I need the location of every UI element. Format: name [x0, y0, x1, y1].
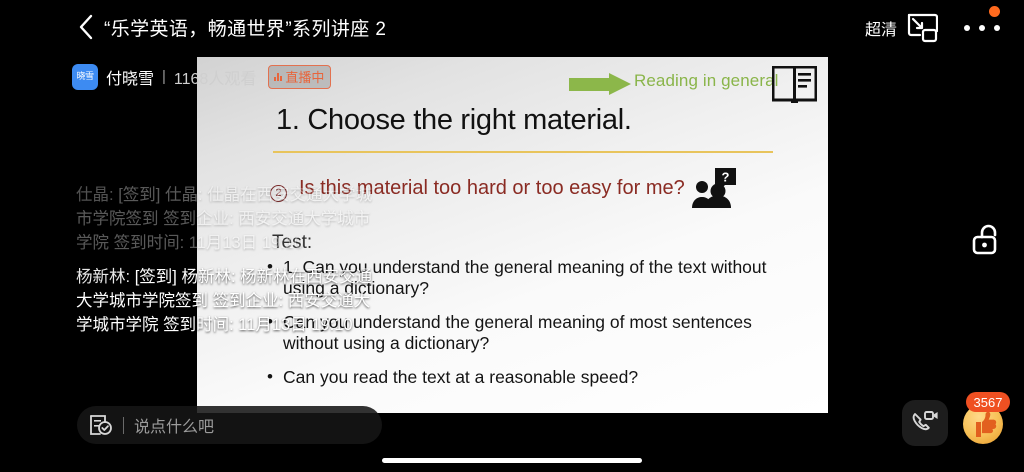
- streamer-info-row: 晓雪 付晓雪 | 1168人观看 直播中: [72, 64, 331, 89]
- more-dot: [979, 25, 985, 31]
- streamer-divider: |: [162, 68, 166, 85]
- signin-check-icon[interactable]: [89, 414, 113, 436]
- video-call-button[interactable]: [902, 400, 948, 446]
- svg-text:?: ?: [722, 170, 730, 185]
- chat-author: 杨新林:: [76, 268, 130, 286]
- list-item: Can you read the text at a reasonable sp…: [267, 367, 812, 388]
- home-indicator: [382, 458, 642, 463]
- chat-input-bar[interactable]: 说点什么吧: [77, 406, 382, 444]
- more-dot: [964, 25, 970, 31]
- viewer-count: 1168人观看: [174, 65, 256, 89]
- status-badge: 直播中: [268, 65, 331, 89]
- live-label: 直播中: [285, 67, 324, 86]
- chevron-left-icon: [78, 14, 93, 40]
- list-item: 杨新林: [签到] 杨新林: 杨新林在西安交通大学城市学院签到 签到企业: 西安…: [76, 265, 381, 337]
- people-question-icon: ?: [691, 168, 737, 208]
- open-book-icon: [772, 66, 817, 103]
- chat-text: [签到] 仕晶: 仕晶在西安交通大学城市学院签到 签到企业: 西安交通大学城市学…: [76, 186, 372, 252]
- chat-overlay[interactable]: 仕晶: [签到] 仕晶: 仕晶在西安交通大学城市学院签到 签到企业: 西安交通大…: [76, 183, 381, 347]
- like-count-badge: 3567: [966, 392, 1010, 412]
- video-call-icon: [911, 410, 939, 436]
- quality-selector[interactable]: 超清: [865, 16, 897, 40]
- picture-in-picture-icon[interactable]: [906, 13, 938, 43]
- page-title: “乐学英语，畅通世界”系列讲座 2: [104, 14, 386, 41]
- input-divider: [123, 417, 124, 434]
- list-item: 仕晶: [签到] 仕晶: 仕晶在西安交通大学城市学院签到 签到企业: 西安交通大…: [76, 183, 381, 255]
- back-button[interactable]: [72, 11, 98, 43]
- live-wave-icon: [274, 72, 282, 81]
- chat-author: 仕晶:: [76, 186, 114, 204]
- streamer-name: 付晓雪: [106, 65, 154, 89]
- more-dot: [994, 25, 1000, 31]
- slide-section-label: Reading in general: [634, 71, 779, 91]
- green-arrow-icon: [569, 73, 631, 95]
- more-notification-badge: [989, 6, 1000, 17]
- unlocked-padlock-icon[interactable]: [962, 216, 1010, 264]
- avatar[interactable]: 晓雪: [72, 64, 98, 90]
- slide-title-rule: [273, 151, 773, 153]
- slide-title: 1. Choose the right material.: [276, 104, 632, 137]
- more-options-button[interactable]: [964, 18, 1000, 38]
- top-bar: “乐学英语，畅通世界”系列讲座 2 超清: [0, 0, 1024, 57]
- search-input[interactable]: 说点什么吧: [134, 413, 214, 437]
